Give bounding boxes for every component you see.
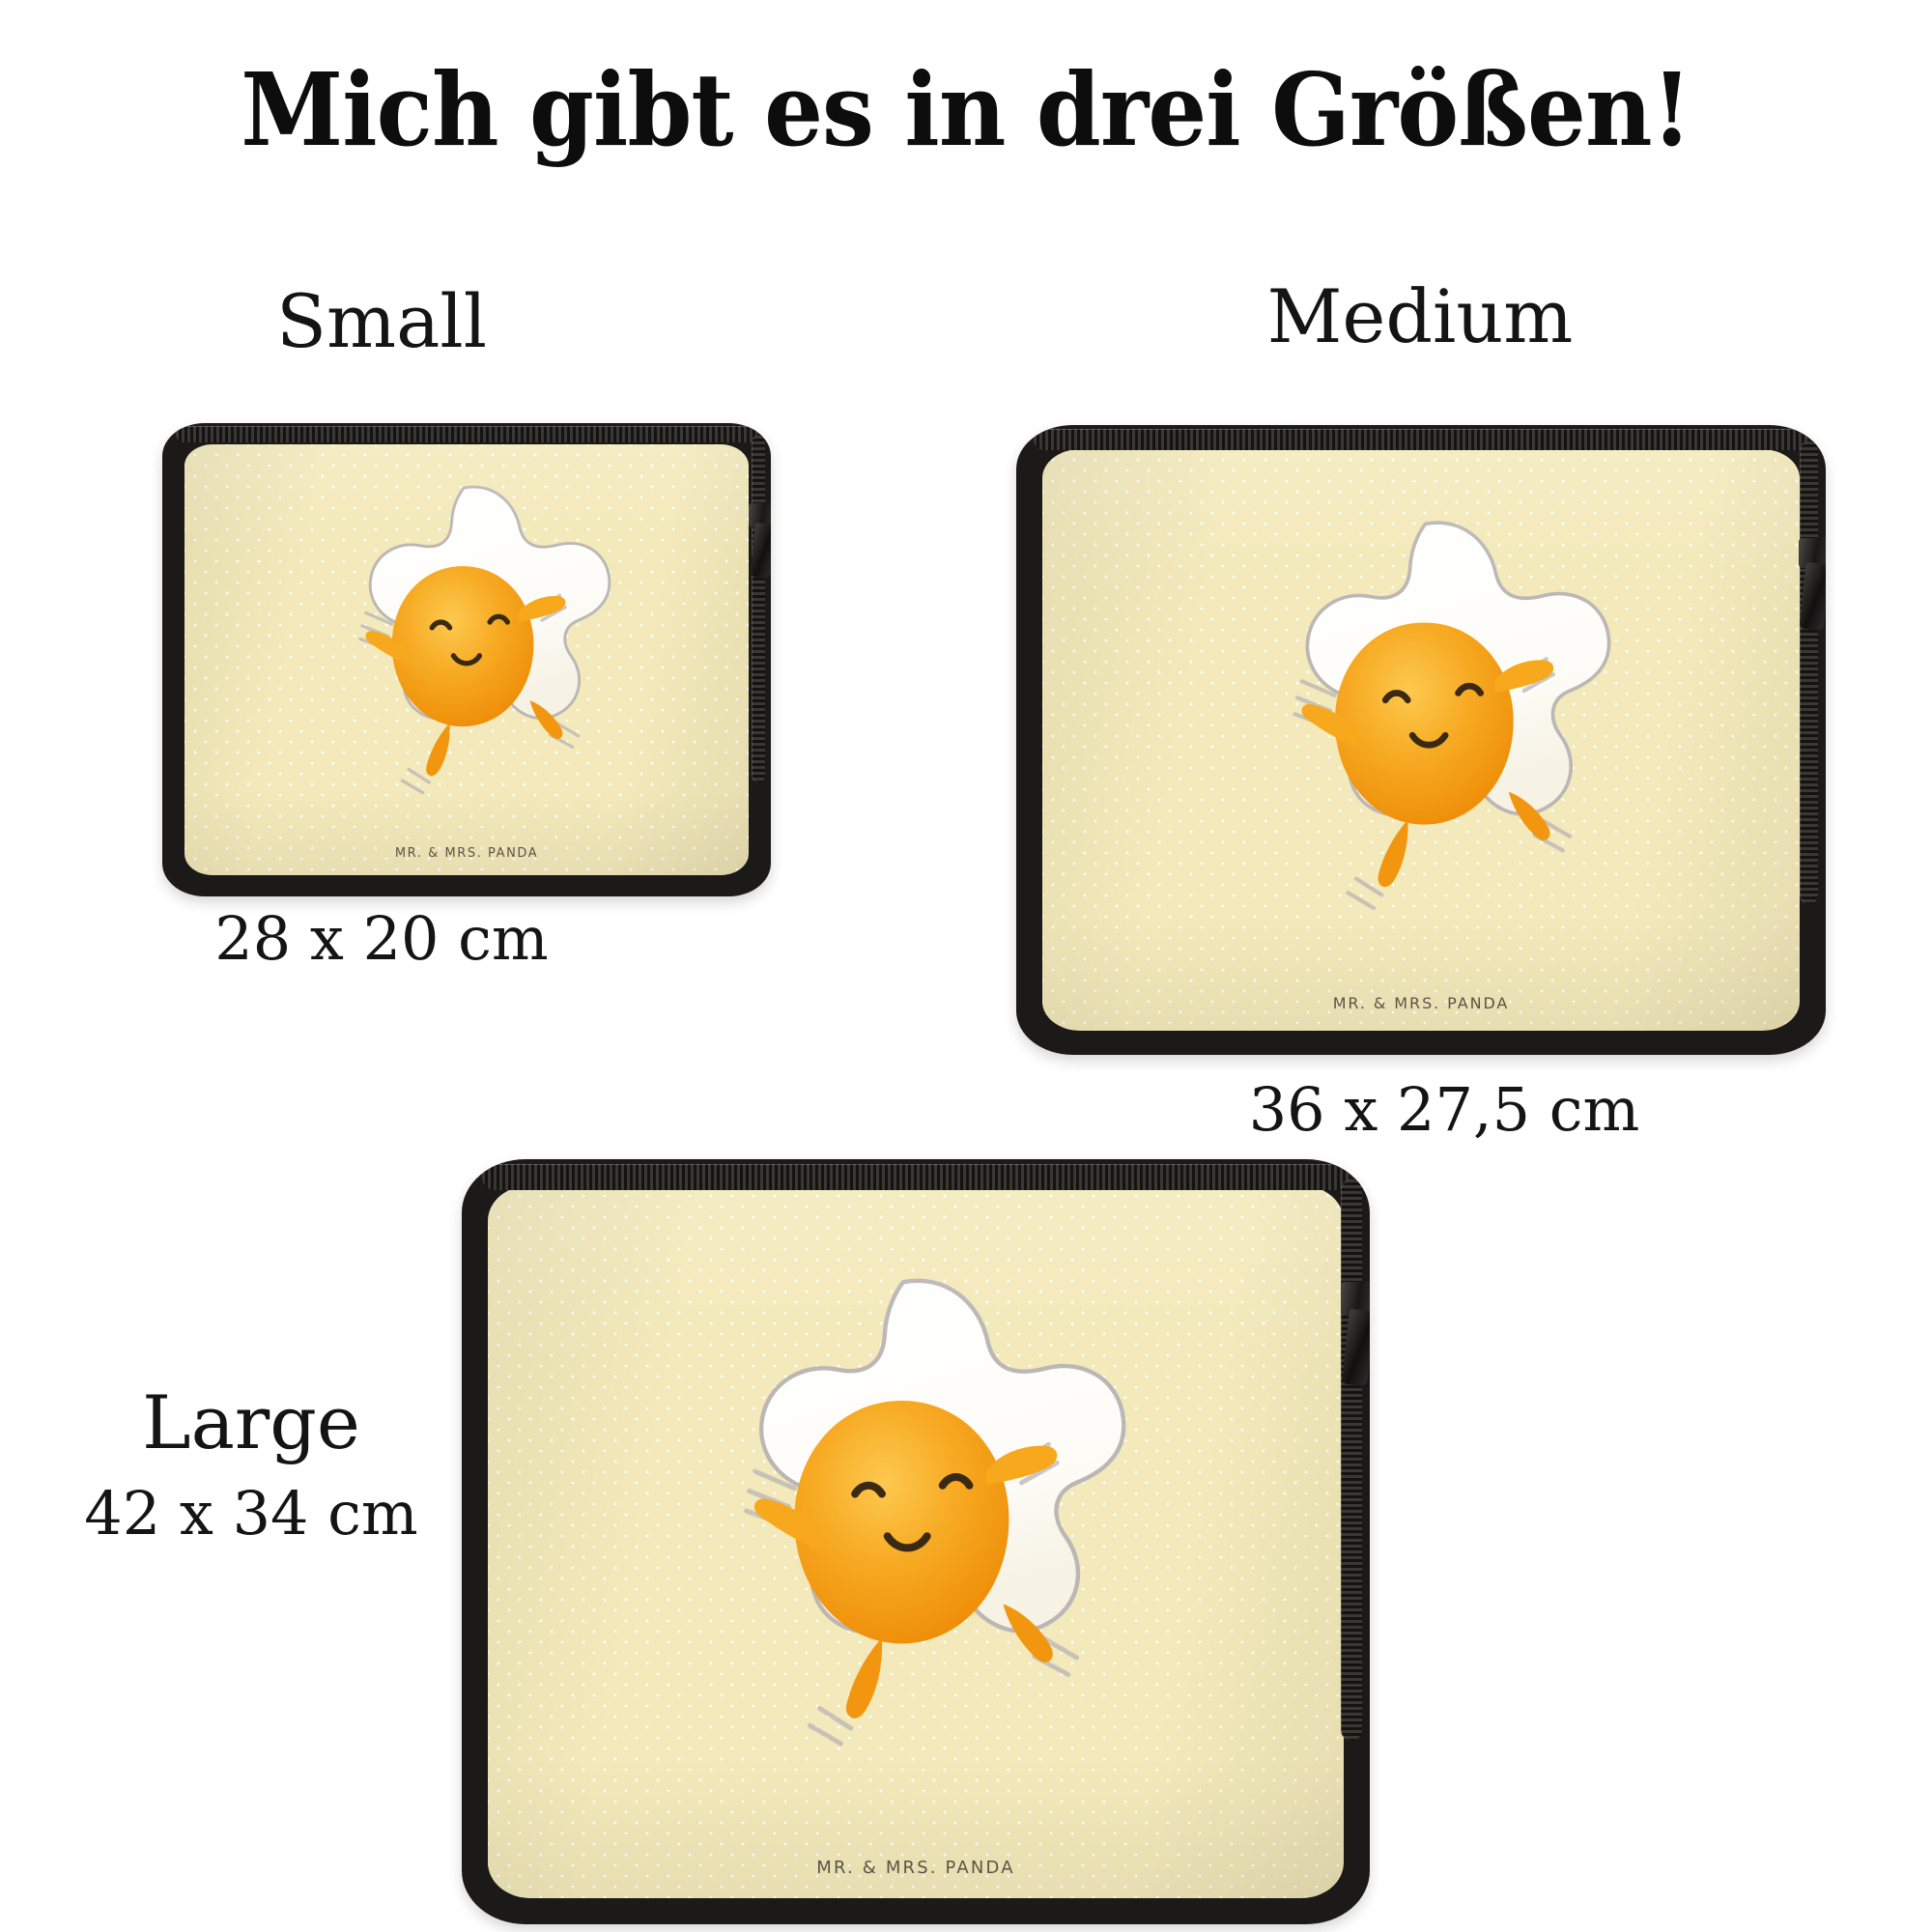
- dimensions-small: 28 x 20 cm: [0, 903, 763, 974]
- sleeve-fabric-medium: MR. & MRS. PANDA: [1042, 449, 1800, 1031]
- zipper-pull-icon-medium[interactable]: [1799, 538, 1826, 626]
- fried-egg-icon: [625, 1221, 1189, 1862]
- sleeve-fabric-large: MR. & MRS. PANDA: [488, 1185, 1344, 1898]
- sleeve-trim-medium: MR. & MRS. PANDA: [1016, 425, 1826, 1055]
- zipper-pull-icon-large[interactable]: [1341, 1282, 1370, 1381]
- sleeve-fabric-small: MR. & MRS. PANDA: [185, 444, 750, 876]
- zipper-tape-side-medium[interactable]: [1800, 441, 1818, 904]
- brand-text-medium: MR. & MRS. PANDA: [1042, 994, 1800, 1012]
- size-comparison-page: Mich gibt es in drei Größen! Small: [0, 0, 1932, 1932]
- fried-egg-icon: [280, 469, 653, 849]
- size-label-large: Large: [48, 1379, 454, 1465]
- product-sleeve-small[interactable]: MR. & MRS. PANDA: [162, 423, 771, 896]
- sleeve-trim-large: MR. & MRS. PANDA: [462, 1159, 1370, 1924]
- dimensions-medium: 36 x 27,5 cm: [1024, 1074, 1864, 1145]
- brand-text-small: MR. & MRS. PANDA: [185, 846, 750, 861]
- product-sleeve-large[interactable]: MR. & MRS. PANDA: [462, 1159, 1370, 1924]
- zipper-tape-side-small[interactable]: [752, 436, 765, 783]
- brand-text-large: MR. & MRS. PANDA: [488, 1858, 1344, 1878]
- zipper-tape-top-medium[interactable]: [1034, 429, 1807, 450]
- size-label-small: Small: [0, 278, 763, 364]
- zipper-tape-top-small[interactable]: [176, 426, 757, 442]
- zipper-tape-side-large[interactable]: [1341, 1179, 1362, 1741]
- dimensions-large: 42 x 34 cm: [48, 1478, 454, 1548]
- page-title: Mich gibt es in drei Größen!: [77, 50, 1855, 169]
- size-label-medium: Medium: [1005, 273, 1835, 359]
- product-sleeve-medium[interactable]: MR. & MRS. PANDA: [1016, 425, 1826, 1055]
- zipper-pull-icon-small[interactable]: [749, 503, 771, 575]
- fried-egg-icon: [1194, 484, 1663, 996]
- sleeve-trim-small: MR. & MRS. PANDA: [162, 423, 771, 896]
